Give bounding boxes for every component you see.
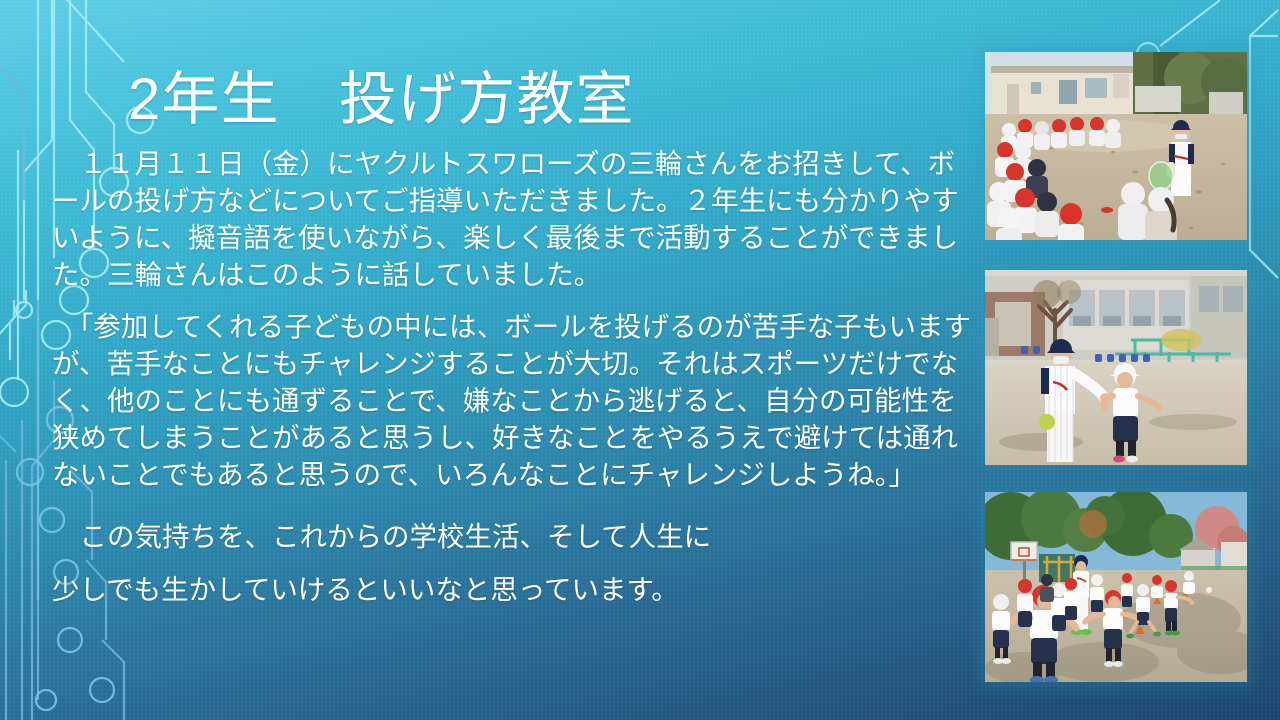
slide-body-text: １１月１１日（金）にヤクルトスワローズの三輪さんをお招きして、ボールの投げ方など…	[52, 146, 977, 631]
photo-children-seated-listening	[985, 52, 1247, 240]
paragraph-quote: 「参加してくれる子どもの中には、ボールを投げるのが苦手な子もいますが、苦手なこと…	[52, 309, 977, 493]
slide-title: 2年生 投げ方教室	[128, 68, 635, 133]
paragraph-intro: １１月１１日（金）にヤクルトスワローズの三輪さんをお招きして、ボールの投げ方など…	[52, 146, 977, 293]
presentation-slide: 2年生 投げ方教室 １１月１１日（金）にヤクルトスワローズの三輪さんをお招きして…	[0, 0, 1280, 720]
photo-coach-instructing-child	[985, 270, 1247, 465]
photo-children-throwing-practice	[985, 492, 1247, 682]
paragraph-closing: この気持ちを、これからの学校生活、そして人生に 少しでも生かしていけるといいなと…	[52, 510, 977, 617]
